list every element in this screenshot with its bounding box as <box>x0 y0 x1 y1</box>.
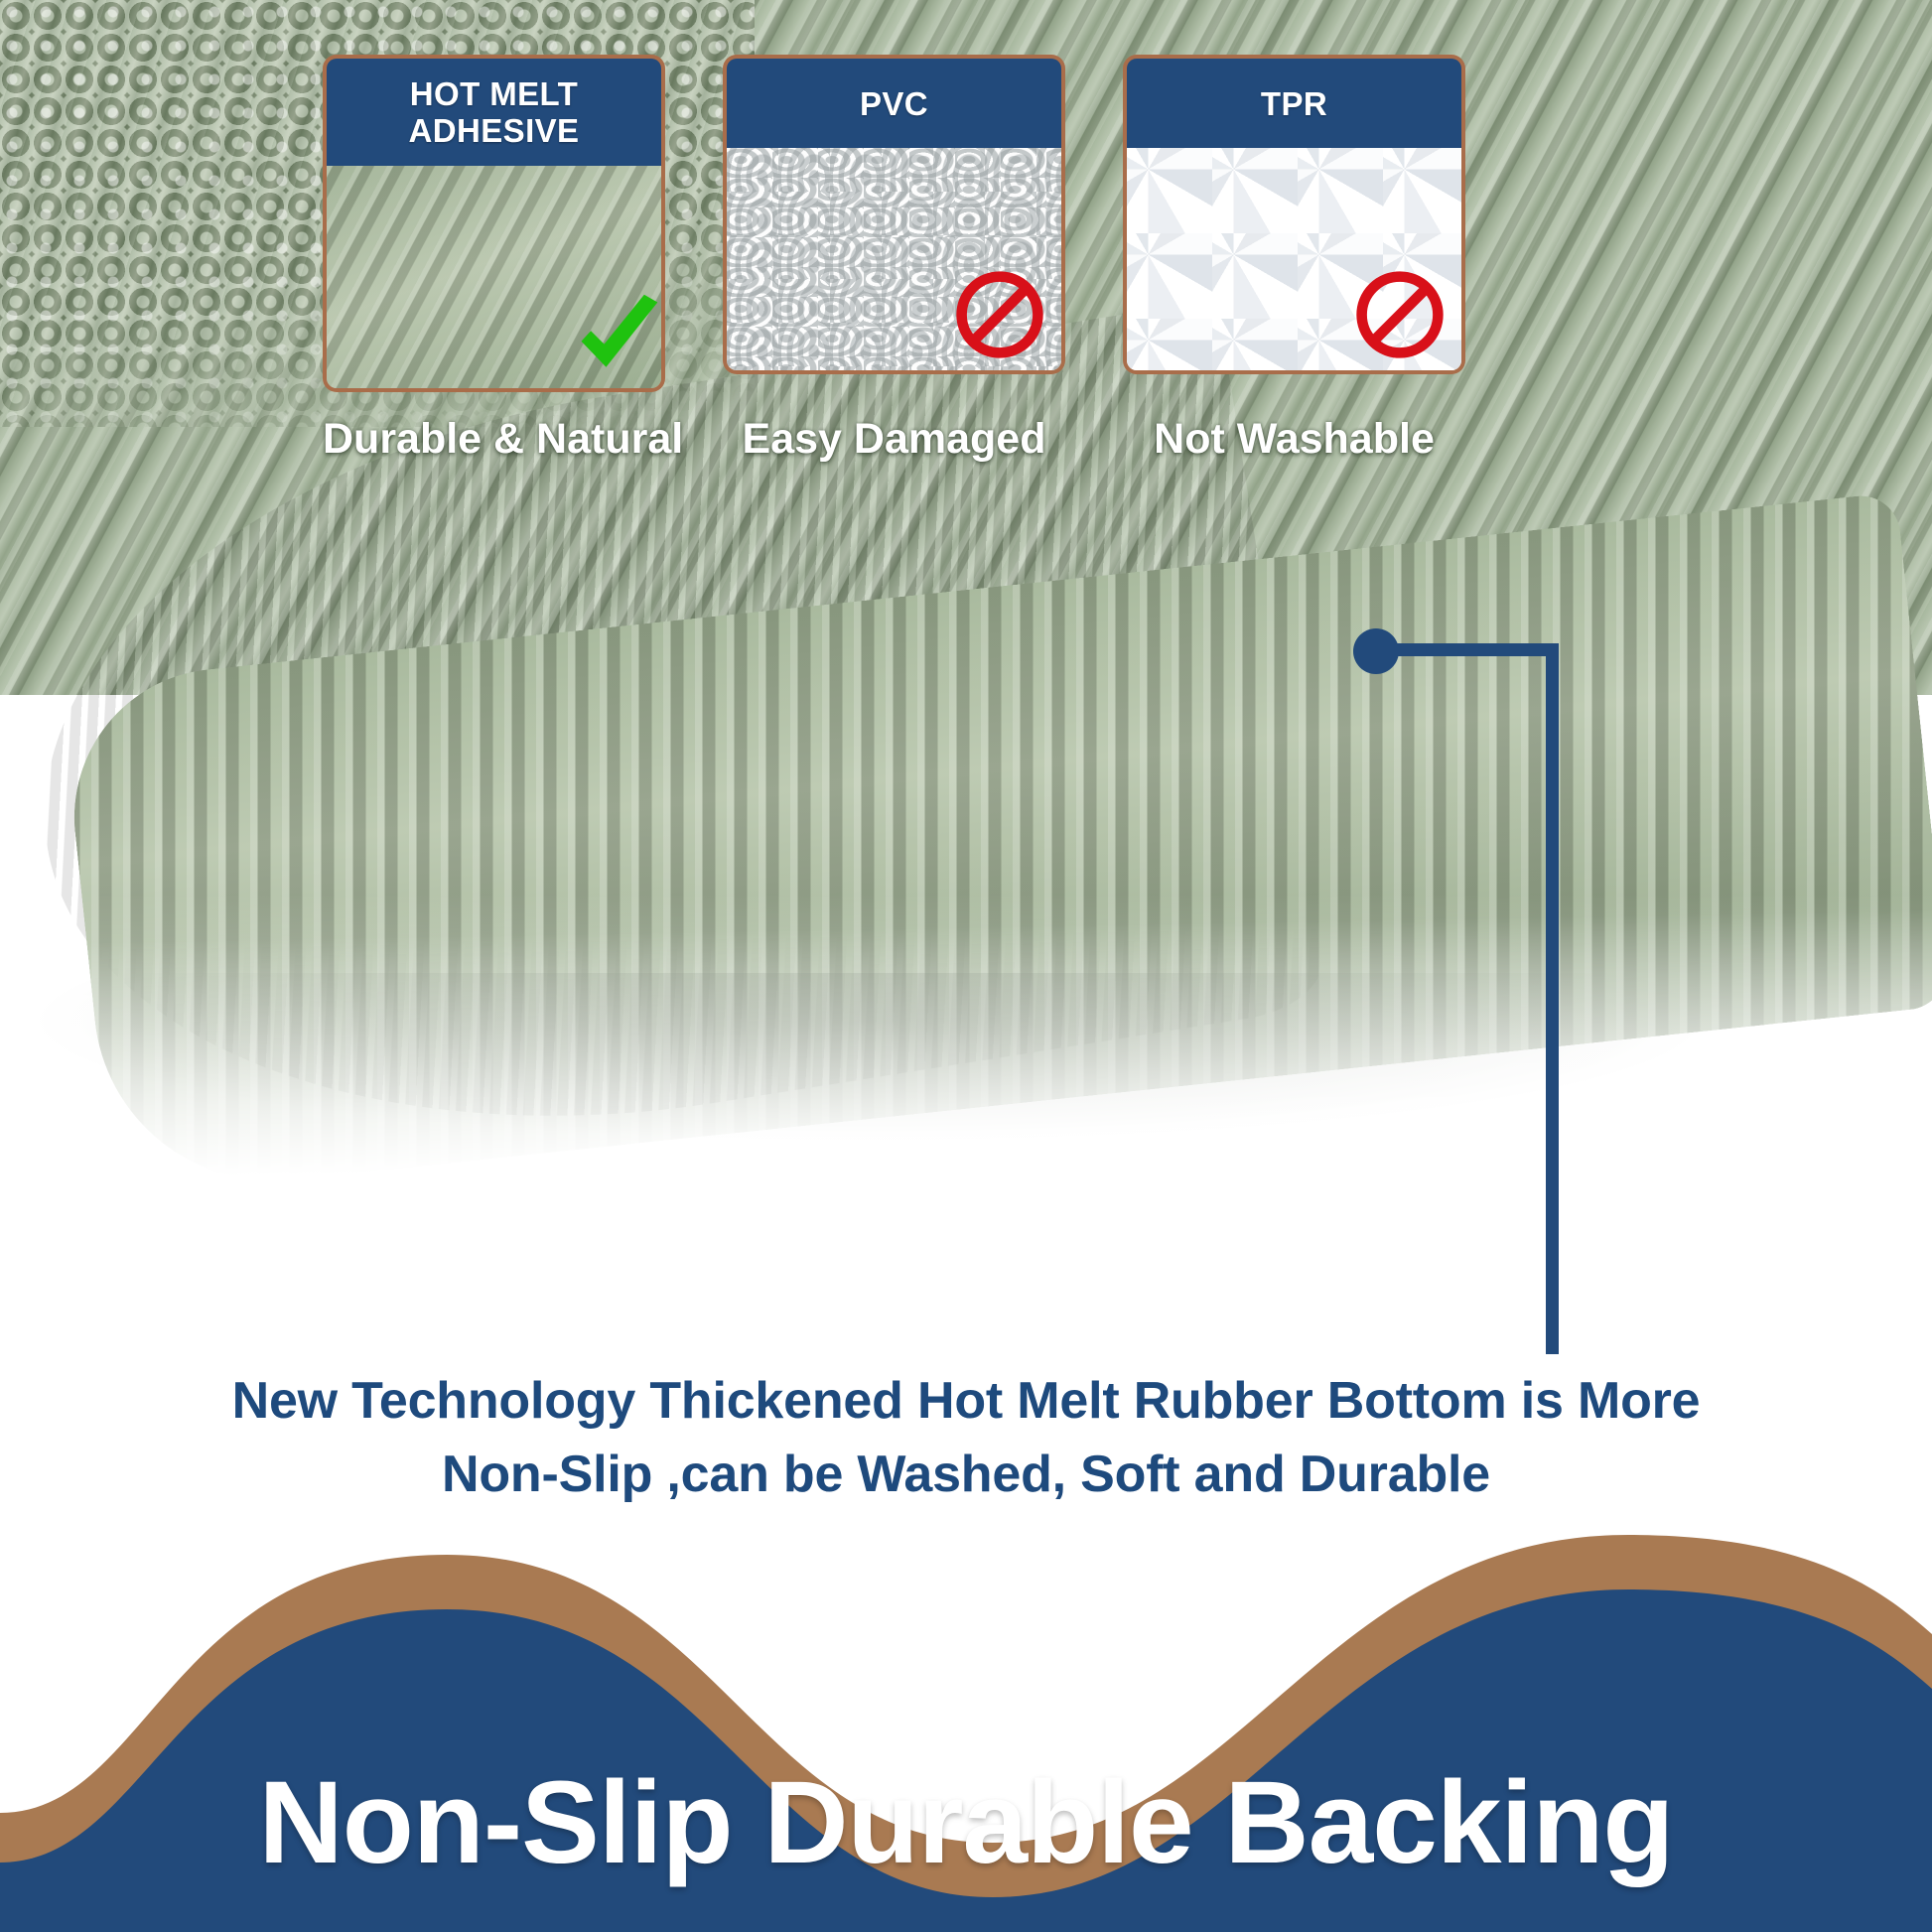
infographic-canvas: HOT MELT ADHESIVE PVC <box>0 0 1932 1932</box>
card-title-line1: TPR <box>1261 86 1327 123</box>
description-line-1: New Technology Thickened Hot Melt Rubber… <box>232 1372 1701 1430</box>
description-text: New Technology Thickened Hot Melt Rubber… <box>0 1365 1932 1512</box>
comparison-card-group: HOT MELT ADHESIVE PVC <box>323 55 1668 392</box>
comparison-card-hot-melt-adhesive: HOT MELT ADHESIVE <box>323 55 665 392</box>
card-swatch-pvc <box>723 148 1065 374</box>
prohibition-icon <box>952 267 1047 362</box>
bottom-banner: Non-Slip Durable Backing <box>0 1515 1932 1932</box>
comparison-card-pvc: PVC <box>723 55 1065 392</box>
caption-hot-melt-adhesive: Durable & Natural <box>323 415 665 464</box>
card-title-line2: ADHESIVE <box>409 112 580 149</box>
card-title-line1: HOT MELT <box>410 75 578 112</box>
callout-line-vertical <box>1546 643 1559 1354</box>
card-title-hot-melt-adhesive: HOT MELT ADHESIVE <box>323 55 665 166</box>
card-swatch-hot-melt-adhesive <box>323 166 665 392</box>
check-icon <box>570 289 665 384</box>
banner-title: Non-Slip Durable Backing <box>0 1755 1932 1890</box>
callout-line-horizontal <box>1376 643 1559 656</box>
description-line-2: Non-Slip ,can be Washed, Soft and Durabl… <box>0 1439 1932 1512</box>
card-title-tpr: TPR <box>1123 55 1465 148</box>
caption-tpr: Not Washable <box>1123 415 1465 464</box>
card-title-pvc: PVC <box>723 55 1065 148</box>
comparison-card-tpr: TPR <box>1123 55 1465 392</box>
card-swatch-tpr <box>1123 148 1465 374</box>
comparison-caption-group: Durable & Natural Easy Damaged Not Washa… <box>323 415 1668 464</box>
caption-pvc: Easy Damaged <box>723 415 1065 464</box>
rug-photo-fade <box>0 894 1932 1390</box>
card-title-line1: PVC <box>860 86 928 123</box>
prohibition-icon <box>1352 267 1448 362</box>
